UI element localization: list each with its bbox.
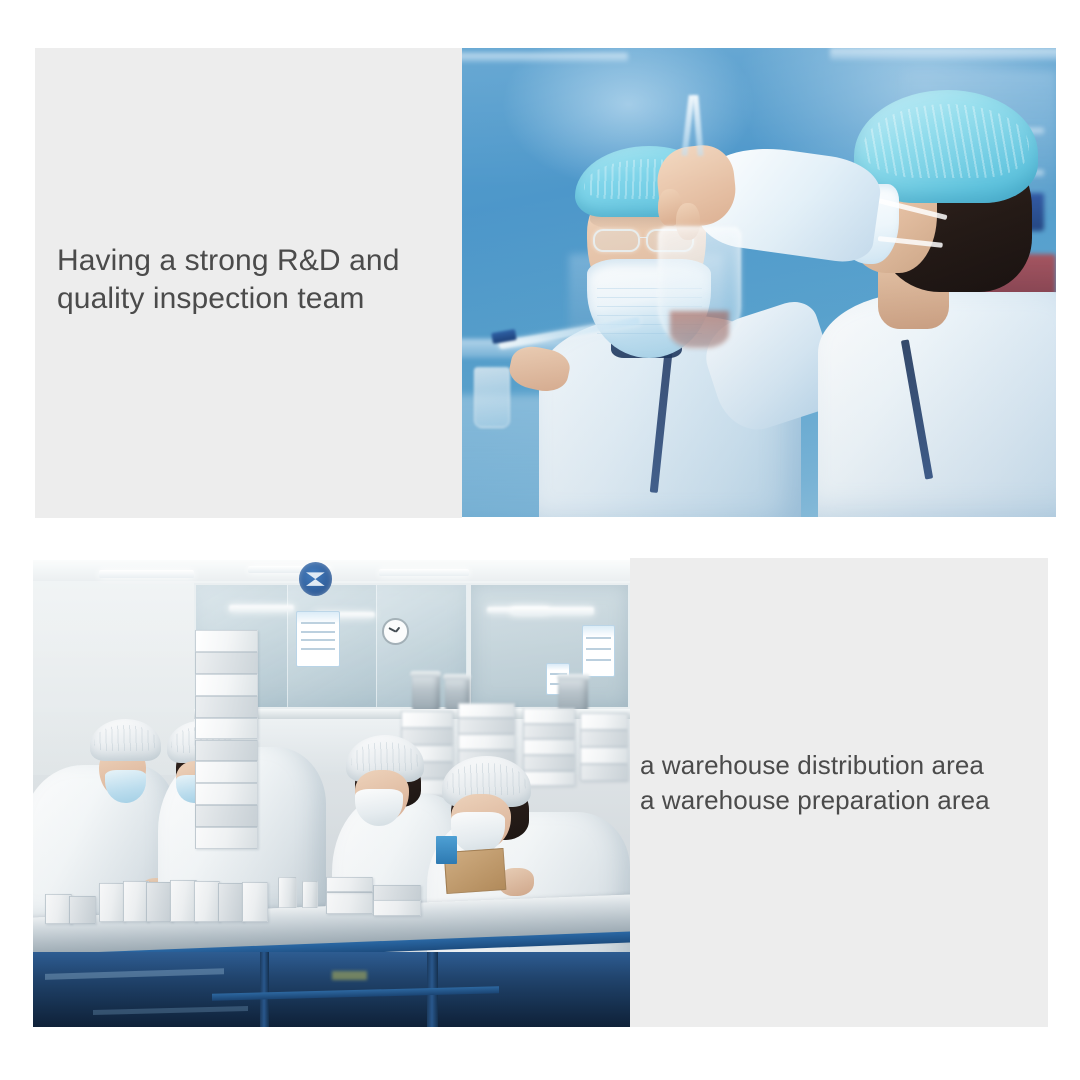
- company-logo-icon: [299, 562, 332, 596]
- warehouse-packing-photo: [33, 560, 630, 1027]
- top-caption-text: Having a strong R&D and quality inspecti…: [57, 242, 457, 318]
- floor-yellow-marking: [332, 971, 368, 980]
- lab-inspection-photo: [462, 48, 1056, 517]
- work-table-leg-1: [260, 952, 270, 1027]
- ceiling-light-1: [99, 570, 195, 577]
- top-text-panel: Having a strong R&D and quality inspecti…: [35, 48, 462, 518]
- wall-sign-right: [582, 625, 615, 676]
- center-tall-box-stack: [176, 625, 307, 868]
- ceiling-light-4: [511, 607, 595, 615]
- top-section: Having a strong R&D and quality inspecti…: [35, 48, 1056, 518]
- table-box-group: [33, 840, 630, 943]
- window-reflected-light-1: [229, 605, 294, 612]
- lab-flask-contents: [670, 311, 729, 349]
- technician-a-glasses-left: [593, 229, 641, 252]
- lab-shelf-top-right: [830, 48, 1056, 60]
- ceiling-light-3: [379, 569, 469, 576]
- page-root: Having a strong R&D and quality inspecti…: [0, 0, 1080, 1080]
- technician-a-glasses-bridge: [640, 237, 647, 238]
- bottom-caption-text: a warehouse distribution area a warehous…: [640, 748, 1045, 817]
- lab-shelf-back: [462, 53, 628, 62]
- wall-clock: [382, 618, 408, 644]
- bottom-text-panel: a warehouse distribution area a warehous…: [630, 558, 1048, 1027]
- bottom-section: a warehouse distribution area a warehous…: [33, 558, 1048, 1027]
- lab-beaker: [474, 367, 510, 428]
